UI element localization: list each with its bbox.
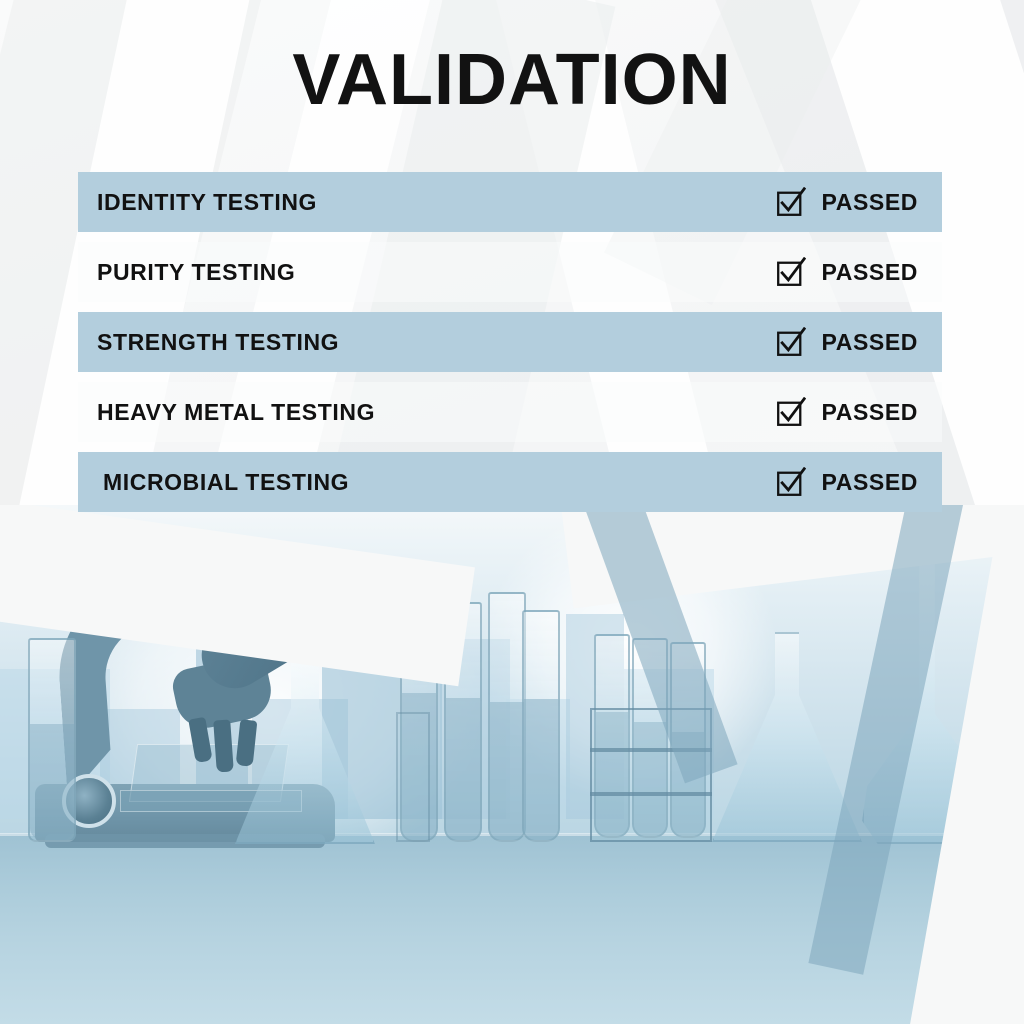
microscope-objective-2 xyxy=(213,719,234,772)
checklist-row[interactable]: HEAVY METAL TESTING PASSED xyxy=(78,382,942,442)
status-badge: PASSED xyxy=(822,189,918,216)
test-tube-rack-bar xyxy=(590,792,712,796)
graduated-cylinder-icon xyxy=(28,638,76,842)
checklist-row-label: PURITY TESTING xyxy=(97,259,295,286)
checklist-row[interactable]: PURITY TESTING PASSED xyxy=(78,242,942,302)
lab-scene-photo xyxy=(0,505,1024,1024)
checklist-row-status: PASSED xyxy=(776,327,942,357)
checked-box-icon[interactable] xyxy=(776,397,806,427)
checklist-row[interactable]: MICROBIAL TESTING PASSED xyxy=(78,452,942,512)
checklist-row-status: PASSED xyxy=(776,397,942,427)
checklist-row[interactable]: STRENGTH TESTING PASSED xyxy=(78,312,942,372)
checked-box-icon[interactable] xyxy=(776,257,806,287)
checked-box-icon[interactable] xyxy=(776,467,806,497)
validation-checklist: IDENTITY TESTING PASSED PURITY TESTING xyxy=(78,172,942,522)
page-title: VALIDATION xyxy=(0,44,1024,116)
status-badge: PASSED xyxy=(822,259,918,286)
status-badge: PASSED xyxy=(822,469,918,496)
checklist-row-status: PASSED xyxy=(776,187,942,217)
checklist-row-label: STRENGTH TESTING xyxy=(97,329,339,356)
checklist-row-label: HEAVY METAL TESTING xyxy=(97,399,375,426)
test-tube-icon xyxy=(522,610,560,842)
status-badge: PASSED xyxy=(822,329,918,356)
checklist-row-status: PASSED xyxy=(776,257,942,287)
status-badge: PASSED xyxy=(822,399,918,426)
checked-box-icon[interactable] xyxy=(776,187,806,217)
checklist-row-status: PASSED xyxy=(776,467,942,497)
test-tube-icon xyxy=(488,592,526,842)
checked-box-icon[interactable] xyxy=(776,327,806,357)
checklist-row[interactable]: IDENTITY TESTING PASSED xyxy=(78,172,942,232)
test-tube-rack-icon xyxy=(396,712,430,842)
validation-infographic: VALIDATION IDENTITY TESTING PASSED PURIT… xyxy=(0,0,1024,1024)
checklist-row-label: MICROBIAL TESTING xyxy=(97,469,349,496)
checklist-row-label: IDENTITY TESTING xyxy=(97,189,317,216)
